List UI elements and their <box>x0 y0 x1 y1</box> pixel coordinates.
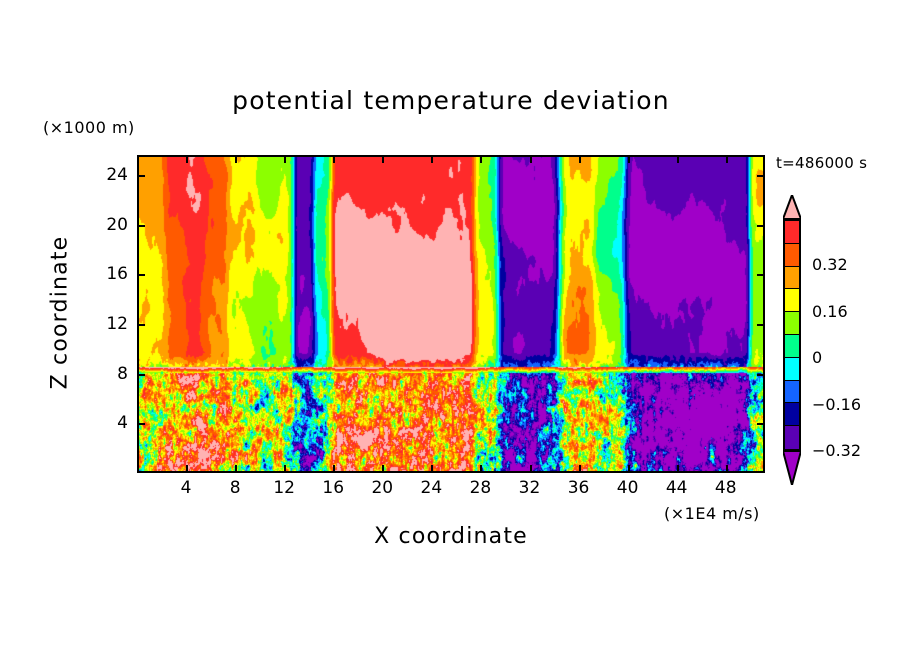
z-axis-units-label: (×1000 m) <box>43 118 135 137</box>
x-tick <box>480 155 482 163</box>
y-tick <box>757 274 765 276</box>
colorbar-tick-label: 0.16 <box>812 302 848 321</box>
colorbar-tick-label: −0.32 <box>812 441 861 460</box>
x-tick <box>235 155 237 163</box>
colorbar-under-arrow <box>783 451 801 485</box>
x-tick-label: 28 <box>460 478 500 498</box>
y-tick <box>137 324 145 326</box>
colorbar-band <box>785 335 799 358</box>
page-title: potential temperature deviation <box>137 86 765 115</box>
x-tick <box>677 155 679 163</box>
y-tick <box>137 423 145 425</box>
y-tick-label: 16 <box>88 264 128 284</box>
colorbar-tick-label: −0.16 <box>812 395 861 414</box>
x-tick <box>186 155 188 163</box>
x-tick <box>431 155 433 163</box>
x-tick <box>579 465 581 473</box>
x-tick <box>579 155 581 163</box>
x-tick-label: 24 <box>411 478 451 498</box>
y-tick-label: 12 <box>88 314 128 334</box>
contour-field <box>139 157 763 471</box>
y-tick <box>757 175 765 177</box>
x-tick <box>284 465 286 473</box>
y-tick <box>757 324 765 326</box>
x-tick <box>235 465 237 473</box>
x-tick-label: 12 <box>264 478 304 498</box>
x-tick-label: 20 <box>362 478 402 498</box>
y-tick <box>137 225 145 227</box>
x-tick <box>333 155 335 163</box>
x-tick <box>284 155 286 163</box>
x-tick <box>677 465 679 473</box>
time-annotation: t=486000 s <box>776 154 867 172</box>
x-tick-label: 32 <box>510 478 550 498</box>
colorbar-tick-label: 0.32 <box>812 255 848 274</box>
x-tick <box>628 465 630 473</box>
x-tick-label: 44 <box>657 478 697 498</box>
x-tick <box>186 465 188 473</box>
figure-root: potential temperature deviation (×1000 m… <box>0 0 904 654</box>
x-tick-label: 16 <box>313 478 353 498</box>
x-tick-label: 8 <box>215 478 255 498</box>
colorbar-band <box>785 267 799 290</box>
colorbar-band <box>785 221 799 244</box>
colorbar-band <box>785 403 799 426</box>
x-tick <box>480 465 482 473</box>
y-tick <box>757 225 765 227</box>
x-tick <box>726 465 728 473</box>
x-tick-label: 40 <box>608 478 648 498</box>
y-tick <box>137 274 145 276</box>
x-tick-label: 4 <box>166 478 206 498</box>
colorbar-band <box>785 381 799 404</box>
x-tick <box>333 465 335 473</box>
colorbar-over-arrow <box>783 195 801 219</box>
y-tick-label: 8 <box>88 364 128 384</box>
x-tick <box>431 465 433 473</box>
colorbar-tick-label: 0 <box>812 348 822 367</box>
x-tick-label: 36 <box>559 478 599 498</box>
y-tick <box>757 374 765 376</box>
contour-plot-area <box>137 155 765 473</box>
y-tick <box>757 423 765 425</box>
x-tick <box>530 465 532 473</box>
colorbar-band <box>785 244 799 267</box>
x-tick <box>382 155 384 163</box>
x-tick <box>726 155 728 163</box>
y-tick-label: 20 <box>88 215 128 235</box>
x-tick <box>530 155 532 163</box>
colorbar-band <box>785 289 799 312</box>
x-axis-units-label: (×1E4 m/s) <box>664 504 760 523</box>
colorbar-band <box>785 312 799 335</box>
colorbar <box>783 219 801 451</box>
y-tick <box>137 175 145 177</box>
colorbar-band <box>785 358 799 381</box>
x-tick <box>382 465 384 473</box>
y-tick <box>137 374 145 376</box>
y-axis-title: Z coordinate <box>48 193 73 433</box>
y-tick-label: 24 <box>88 165 128 185</box>
y-tick-label: 4 <box>88 413 128 433</box>
colorbar-band <box>785 426 799 449</box>
x-tick-label: 48 <box>706 478 746 498</box>
x-tick <box>628 155 630 163</box>
x-axis-title: X coordinate <box>137 524 765 549</box>
